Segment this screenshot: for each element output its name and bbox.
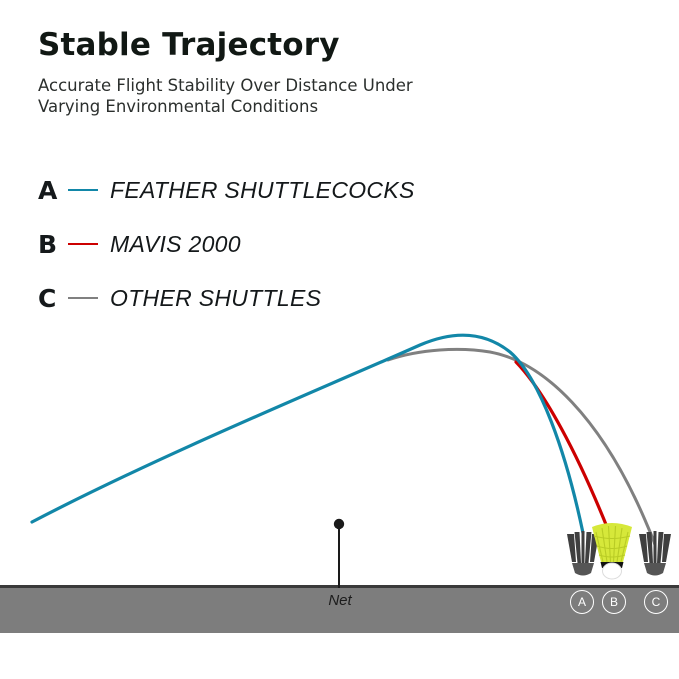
legend-key-a: A [38, 178, 64, 203]
feather-shuttle-c-icon [639, 531, 671, 576]
header: Stable Trajectory Accurate Flight Stabil… [38, 28, 518, 118]
legend-label-c: OTHER SHUTTLES [110, 287, 321, 310]
legend-item-b[interactable]: B MAVIS 2000 [38, 224, 468, 264]
legend-item-c[interactable]: C OTHER SHUTTLES [38, 278, 468, 318]
legend-swatch-b [68, 243, 98, 245]
legend: A FEATHER SHUTTLECOCKS B MAVIS 2000 C OT… [38, 170, 468, 332]
legend-label-b: MAVIS 2000 [110, 233, 241, 256]
trajectory-curves [32, 335, 655, 545]
legend-item-a[interactable]: A FEATHER SHUTTLECOCKS [38, 170, 468, 210]
feather-shuttle-a-icon [567, 531, 599, 576]
shuttle-badges: A B C [560, 590, 679, 618]
curve-other-shuttles [388, 349, 655, 545]
legend-key-b: B [38, 232, 64, 257]
legend-swatch-c [68, 297, 98, 299]
curve-feather-shuttlecocks [32, 335, 583, 533]
page-subtitle: Accurate Flight Stability Over Distance … [38, 75, 438, 119]
badge-c[interactable]: C [644, 590, 668, 614]
nylon-shuttle-b-icon [592, 523, 632, 579]
trajectory-infographic: Stable Trajectory Accurate Flight Stabil… [0, 0, 679, 679]
legend-key-c: C [38, 286, 64, 311]
curve-mavis-2000 [516, 362, 607, 527]
badge-b[interactable]: B [602, 590, 626, 614]
badge-a[interactable]: A [570, 590, 594, 614]
legend-label-a: FEATHER SHUTTLECOCKS [110, 179, 415, 202]
net-label: Net [310, 592, 370, 609]
legend-swatch-a [68, 189, 98, 191]
net [334, 519, 344, 588]
page-title: Stable Trajectory [38, 28, 518, 64]
